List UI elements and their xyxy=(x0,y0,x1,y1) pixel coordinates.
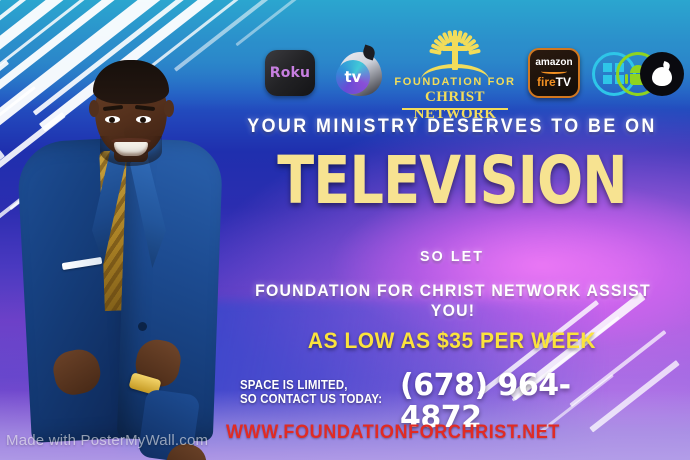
apple-icon[interactable] xyxy=(640,52,684,96)
fire-tv-wordmark: fireTV xyxy=(537,76,571,88)
amazon-swoosh-icon xyxy=(541,69,567,74)
apple-glyph xyxy=(651,62,673,86)
apple-tv-icon[interactable]: tv xyxy=(330,42,388,100)
assist-text: FOUNDATION FOR CHRIST NETWORK ASSIST YOU… xyxy=(238,281,668,321)
cross-horizontal-icon xyxy=(442,46,468,51)
streaming-platform-logo-row: Roku tv FOUNDATION FOR CHRIST NETWORK am… xyxy=(0,0,690,110)
eye-left xyxy=(105,116,120,123)
foundation-for-christ-network-logo: FOUNDATION FOR CHRIST NETWORK xyxy=(392,20,518,102)
fire-word: fire xyxy=(537,75,556,89)
promotional-poster: Roku tv FOUNDATION FOR CHRIST NETWORK am… xyxy=(0,0,690,460)
device-platform-icons xyxy=(592,52,684,96)
apple-tv-label: tv xyxy=(345,68,362,86)
space-limited-line-1: SPACE IS LIMITED, xyxy=(240,378,390,392)
price-text: AS LOW AS $35 PER WEEK xyxy=(243,328,661,354)
space-limited-line-2: SO CONTACT US TODAY: xyxy=(240,392,390,406)
space-limited-text: SPACE IS LIMITED, SO CONTACT US TODAY: xyxy=(240,378,390,406)
amazon-wordmark: amazon xyxy=(535,58,572,68)
tv-word: TV xyxy=(556,75,571,89)
roku-icon[interactable]: Roku xyxy=(265,50,315,96)
beard-shadow xyxy=(100,136,162,166)
logo-line-1: FOUNDATION FOR xyxy=(392,76,518,88)
television-title: TELEVISION xyxy=(272,148,633,214)
so-let-text: SO LET xyxy=(243,248,661,265)
jacket-button xyxy=(138,322,147,331)
postermywall-watermark: Made with PosterMyWall.com xyxy=(6,432,208,449)
businessman-photo xyxy=(18,92,233,460)
logo-underline xyxy=(402,108,508,110)
amazon-fire-tv-icon[interactable]: amazon fireTV xyxy=(528,48,580,98)
sun-ray xyxy=(468,49,481,55)
eye-right xyxy=(136,116,151,123)
apple-tv-badge: tv xyxy=(336,60,370,94)
roku-wordmark: Roku xyxy=(270,65,310,81)
website-url[interactable]: WWW.FOUNDATIONFORCHRIST.NET xyxy=(226,422,625,444)
headline-text: YOUR MINISTRY DESERVES TO BE ON xyxy=(245,116,659,138)
